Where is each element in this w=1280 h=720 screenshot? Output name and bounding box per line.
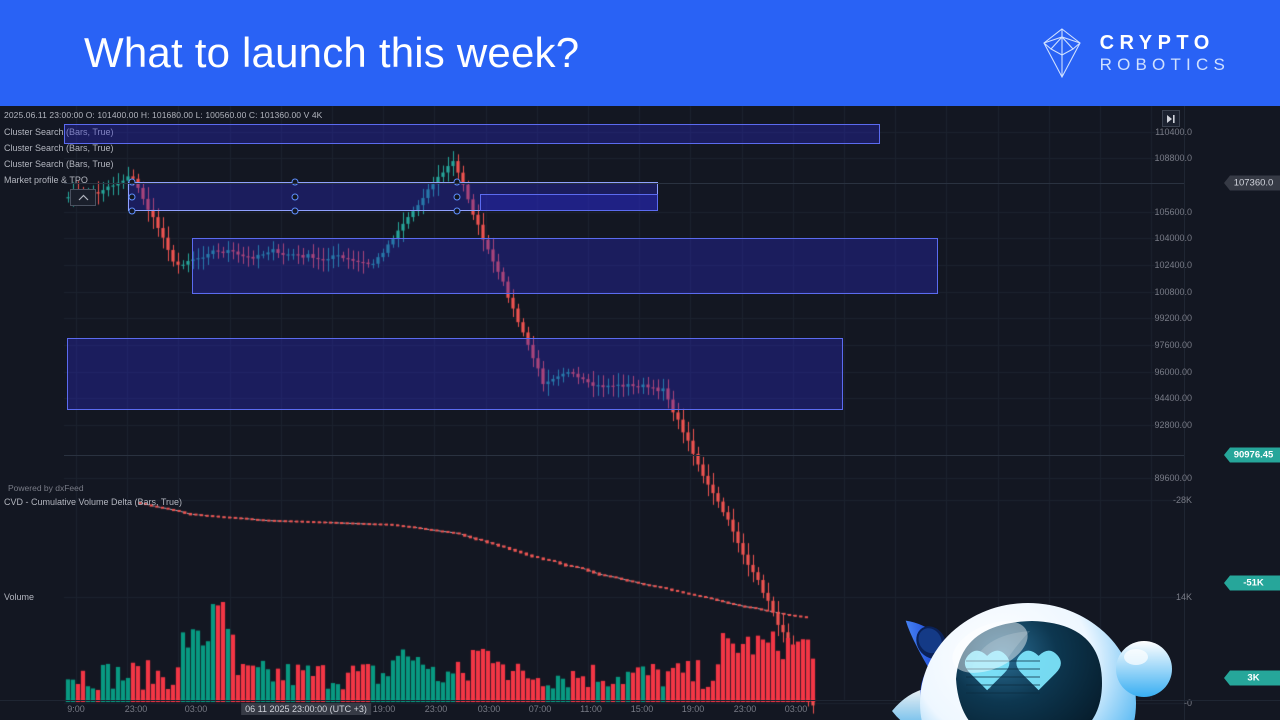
zone-rect-top[interactable] [64, 124, 880, 144]
time-tick-current: 06 11 2025 23:00:00 (UTC +3) [241, 703, 371, 715]
rect-handle-bc[interactable] [292, 208, 299, 215]
legend-cluster-search-2[interactable]: Cluster Search (Bars, True) [4, 143, 114, 153]
crosshair-price-line [64, 183, 1184, 184]
rect-handle-tr[interactable] [454, 179, 461, 186]
skip-to-end-icon [1166, 114, 1176, 124]
time-tick-10: 15:00 [631, 704, 654, 714]
price-tick-96000: 96000.00 [1108, 367, 1192, 377]
ohlc-readout: 2025.06.11 23:00:00 O: 101400.00 H: 1016… [4, 110, 322, 120]
cvd-last-badge: -51K [1224, 576, 1280, 591]
brand-name-primary: CRYPTO [1100, 32, 1230, 54]
header-banner: What to launch this week? CRYPTO ROBOTIC… [0, 0, 1280, 106]
crosshair-price-badge: 107360.0 [1224, 176, 1280, 191]
rect-handle-tc[interactable] [292, 179, 299, 186]
rect-handle-ml[interactable] [129, 194, 136, 201]
chevron-up-icon [78, 194, 89, 201]
time-tick-12: 23:00 [734, 704, 757, 714]
page-title: What to launch this week? [84, 29, 579, 77]
price-tick-92800: 92800.00 [1108, 420, 1192, 430]
time-tick-0: 9:00 [67, 704, 85, 714]
last-price-badge: 90976.45 [1224, 448, 1280, 463]
time-tick-2: 03:00 [185, 704, 208, 714]
rect-handle-bl[interactable] [129, 208, 136, 215]
time-tick-6: 23:00 [425, 704, 448, 714]
collapse-pane-button[interactable] [70, 189, 96, 206]
rect-handle-tl[interactable] [129, 179, 136, 186]
go-to-realtime-button[interactable] [1162, 110, 1180, 127]
diamond-gem-icon [1042, 27, 1082, 79]
robot-mascot-illustration: CRYPTO ROBOTICS [840, 561, 1180, 720]
price-tick-102400: 102400.0 [1108, 260, 1192, 270]
legend-cvd[interactable]: CVD - Cumulative Volume Delta (Bars, Tru… [4, 497, 182, 507]
brand-name-secondary: ROBOTICS [1100, 55, 1230, 74]
legend-volume[interactable]: Volume [4, 592, 34, 602]
time-tick-7: 03:00 [478, 704, 501, 714]
time-tick-9: 11:00 [580, 704, 602, 714]
volume-last-badge: 3K [1224, 671, 1280, 686]
rect-handle-br[interactable] [454, 208, 461, 215]
zone-rect-bottom[interactable] [67, 338, 843, 410]
price-tick-104000: 104000.0 [1108, 233, 1192, 243]
powered-by-label: Powered by dxFeed [8, 483, 84, 493]
price-tick-110400: 110400.0 [1108, 127, 1192, 137]
cvd-tick-minus28k: -28K [1108, 495, 1192, 505]
last-price-line [64, 455, 1184, 456]
price-tick-108800: 108800.0 [1108, 153, 1192, 163]
price-tick-94400: 94400.00 [1108, 393, 1192, 403]
time-tick-8: 07:00 [529, 704, 552, 714]
time-tick-1: 23:00 [125, 704, 148, 714]
time-tick-5: 19:00 [373, 704, 396, 714]
price-tick-99200: 99200.00 [1108, 313, 1192, 323]
price-axis[interactable]: 110400.0 108800.0 107360.0 105600.0 1040… [1184, 106, 1280, 720]
time-tick-13: 03:00 [785, 704, 808, 714]
zone-rect-right[interactable] [480, 194, 658, 211]
price-tick-97600: 97600.00 [1108, 340, 1192, 350]
time-tick-11: 19:00 [682, 704, 705, 714]
rect-handle-mc[interactable] [292, 194, 299, 201]
legend-cluster-search-3[interactable]: Cluster Search (Bars, True) [4, 159, 114, 169]
price-tick-100800: 100800.0 [1108, 287, 1192, 297]
chart-area[interactable]: 2025.06.11 23:00:00 O: 101400.00 H: 1016… [0, 106, 1280, 720]
rect-handle-mr[interactable] [454, 194, 461, 201]
price-tick-105600: 105600.0 [1108, 207, 1192, 217]
price-tick-89600: 89600.00 [1108, 473, 1192, 483]
zone-rect-mid[interactable] [192, 238, 938, 294]
brand-logo: CRYPTO ROBOTICS [1042, 27, 1230, 79]
